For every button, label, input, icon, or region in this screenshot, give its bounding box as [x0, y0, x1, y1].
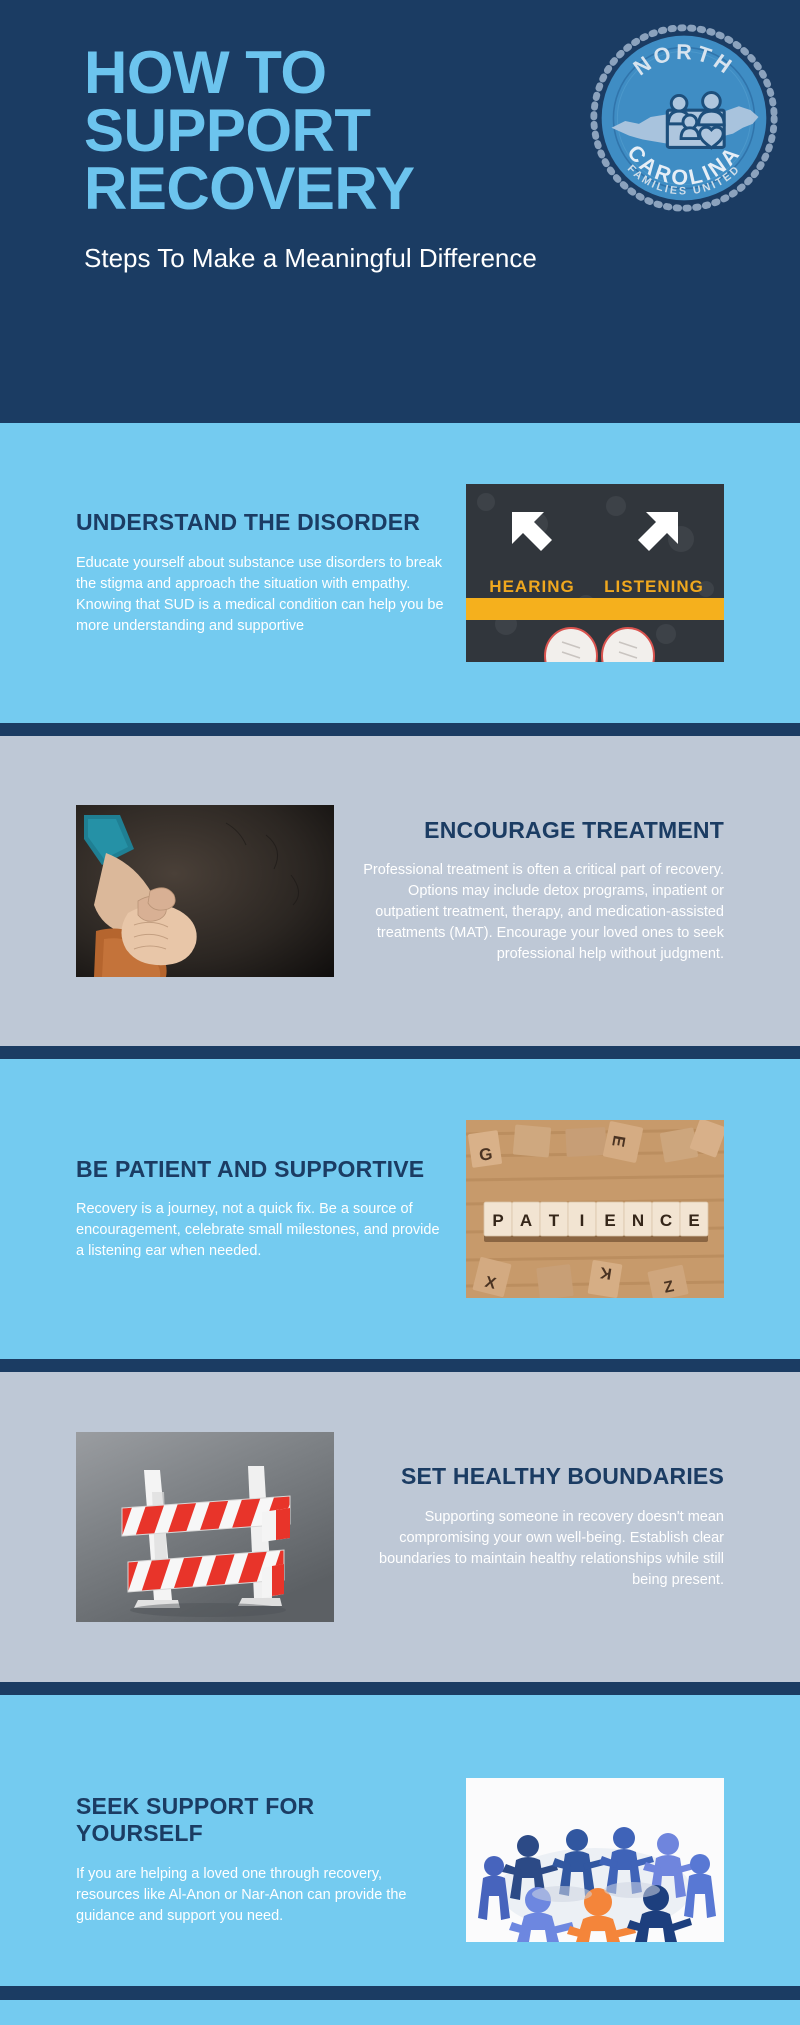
paper-people-circle-photo: [466, 1778, 724, 1942]
section-2-body: Professional treatment is often a critic…: [354, 860, 724, 965]
section-understand-the-disorder: UNDERSTAND THE DISORDER Educate yourself…: [0, 423, 800, 723]
svg-text:P: P: [492, 1211, 503, 1230]
section-2-heading: ENCOURAGE TREATMENT: [354, 817, 724, 844]
section-1-image-column: HEARING LISTENING: [466, 484, 724, 662]
svg-text:I: I: [580, 1211, 585, 1230]
section-3-body: Recovery is a journey, not a quick fix. …: [76, 1199, 446, 1262]
road-barricade-photo: [76, 1432, 334, 1622]
section-3-image-column: G E: [466, 1120, 724, 1298]
header: HOW TO SUPPORT RECOVERY Steps To Make a …: [0, 0, 800, 410]
divider-4: [0, 1359, 800, 1372]
section-set-healthy-boundaries: SET HEALTHY BOUNDARIES Supporting someon…: [0, 1372, 800, 1682]
infographic-page: HOW TO SUPPORT RECOVERY Steps To Make a …: [0, 0, 800, 2000]
section-5-heading: SEEK SUPPORT FOR YOURSELF: [76, 1793, 446, 1847]
page-title: HOW TO SUPPORT RECOVERY: [84, 44, 514, 219]
section-1-text-column: UNDERSTAND THE DISORDER Educate yourself…: [76, 509, 446, 636]
svg-text:A: A: [520, 1211, 532, 1230]
section-be-patient-and-supportive: BE PATIENT AND SUPPORTIVE Recovery is a …: [0, 1059, 800, 1359]
divider-2: [0, 723, 800, 736]
section-2-image-column: [76, 805, 334, 977]
photo-label-listening: LISTENING: [604, 577, 704, 596]
svg-text:E: E: [688, 1211, 699, 1230]
svg-text:E: E: [604, 1211, 615, 1230]
section-5-body: If you are helping a loved one through r…: [76, 1864, 446, 1927]
section-2-text-column: ENCOURAGE TREATMENT Professional treatme…: [354, 817, 724, 965]
section-seek-support-for-yourself: SEEK SUPPORT FOR YOURSELF If you are hel…: [0, 1695, 800, 2025]
section-3-heading: BE PATIENT AND SUPPORTIVE: [76, 1156, 446, 1183]
section-1-body: Educate yourself about substance use dis…: [76, 553, 446, 637]
section-encourage-treatment: ENCOURAGE TREATMENT Professional treatme…: [0, 736, 800, 1046]
divider-1: [0, 410, 800, 423]
section-5-image-column: [466, 1778, 724, 1942]
section-1-heading: UNDERSTAND THE DISORDER: [76, 509, 446, 536]
helping-hands-photo: [76, 805, 334, 977]
nc-families-united-seal-icon: NORTH CAROLINA FAMILIES UNITED: [586, 20, 782, 216]
section-4-body: Supporting someone in recovery doesn't m…: [354, 1507, 724, 1591]
page-subtitle: Steps To Make a Meaningful Difference: [84, 241, 564, 277]
section-3-text-column: BE PATIENT AND SUPPORTIVE Recovery is a …: [76, 1156, 446, 1262]
svg-text:N: N: [632, 1211, 644, 1230]
hearing-listening-crosswalk-photo: HEARING LISTENING: [466, 484, 724, 662]
section-4-heading: SET HEALTHY BOUNDARIES: [354, 1463, 724, 1490]
svg-text:G: G: [478, 1144, 494, 1165]
divider-5: [0, 1682, 800, 1695]
divider-3: [0, 1046, 800, 1059]
section-4-text-column: SET HEALTHY BOUNDARIES Supporting someon…: [354, 1463, 724, 1590]
patience-wooden-blocks-photo: G E: [466, 1120, 724, 1298]
section-4-image-column: [76, 1432, 334, 1622]
section-5-text-column: SEEK SUPPORT FOR YOURSELF If you are hel…: [76, 1793, 446, 1926]
svg-text:C: C: [660, 1211, 672, 1230]
svg-text:T: T: [549, 1211, 560, 1230]
photo-label-hearing: HEARING: [489, 577, 574, 596]
footer-bar: [0, 1986, 800, 2000]
